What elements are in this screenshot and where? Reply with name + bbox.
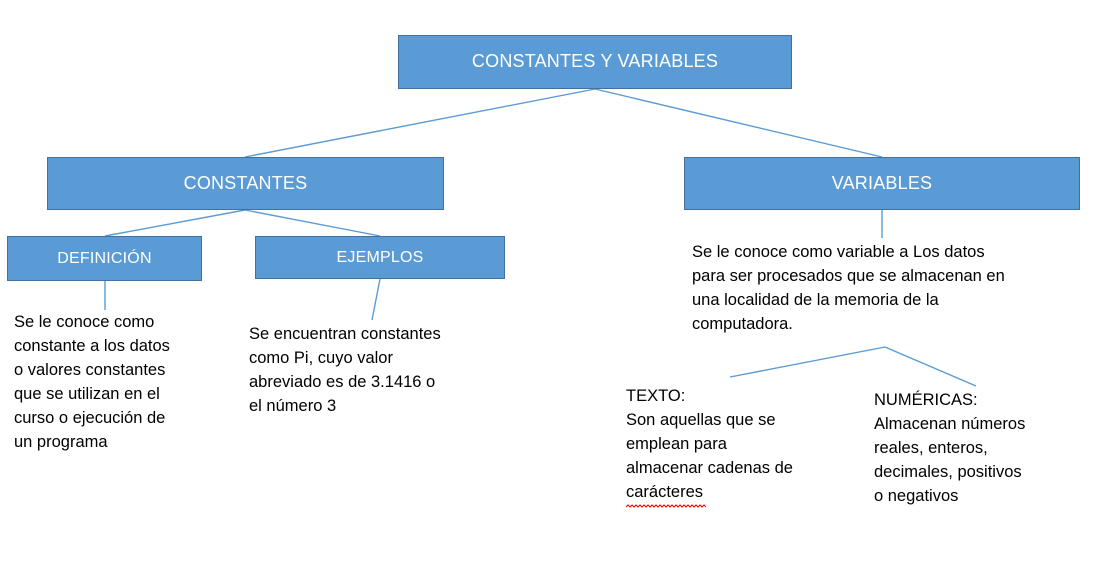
spellcheck-squiggle-icon xyxy=(626,504,706,508)
numericas-line-3: decimales, positivos xyxy=(874,461,1077,485)
node-definicion[interactable]: DEFINICIÓN xyxy=(7,236,202,281)
node-ejemplos[interactable]: EJEMPLOS xyxy=(255,236,505,279)
text-variables-body: Se le conoce como variable a Los datos p… xyxy=(692,241,1078,337)
text-ejemplos-body: Se encuentran constantes como Pi, cuyo v… xyxy=(249,323,505,419)
definicion-line-3: o valores constantes xyxy=(14,359,200,383)
node-constantes-label: CONSTANTES xyxy=(184,174,308,194)
node-constantes-y-variables[interactable]: CONSTANTES Y VARIABLES xyxy=(398,35,792,89)
node-definicion-label: DEFINICIÓN xyxy=(57,250,151,268)
texto-line-2: emplean para xyxy=(626,433,838,457)
numericas-line-4: o negativos xyxy=(874,485,1077,509)
node-constantes[interactable]: CONSTANTES xyxy=(47,157,444,210)
definicion-line-6: un programa xyxy=(14,431,200,455)
connector-ejemplos-to-text xyxy=(372,279,380,320)
connector-variables-to-texto xyxy=(730,347,885,377)
variables-line-1: Se le conoce como variable a Los datos xyxy=(692,241,1078,265)
misspelled-word: carácteres xyxy=(626,481,703,505)
definicion-line-5: curso o ejecución de xyxy=(14,407,200,431)
definicion-line-4: que se utilizan en el xyxy=(14,383,200,407)
concept-map-canvas: CONSTANTES Y VARIABLES CONSTANTES VARIAB… xyxy=(0,0,1104,580)
connector-root-to-constantes xyxy=(245,89,595,157)
texto-line-1: Son aquellas que se xyxy=(626,409,838,433)
ejemplos-line-2: como Pi, cuyo valor xyxy=(249,347,505,371)
node-ejemplos-label: EJEMPLOS xyxy=(337,249,424,267)
texto-line-3: almacenar cadenas de xyxy=(626,457,838,481)
connector-constantes-to-definicion xyxy=(105,210,245,236)
connector-variables-to-numericas xyxy=(885,347,976,386)
definicion-line-2: constante a los datos xyxy=(14,335,200,359)
node-variables-label: VARIABLES xyxy=(832,174,933,194)
misspelled-word-text: carácteres xyxy=(626,483,703,501)
texto-line-4: carácteres xyxy=(626,481,838,505)
text-definicion-body: Se le conoce como constante a los datos … xyxy=(14,311,200,455)
text-numericas-branch: NUMÉRICAS: Almacenan números reales, ent… xyxy=(874,389,1077,509)
texto-heading: TEXTO: xyxy=(626,385,838,409)
variables-line-3: una localidad de la memoria de la xyxy=(692,289,1078,313)
connector-root-to-variables xyxy=(595,89,882,157)
ejemplos-line-1: Se encuentran constantes xyxy=(249,323,505,347)
numericas-heading: NUMÉRICAS: xyxy=(874,389,1077,413)
connector-constantes-to-ejemplos xyxy=(245,210,380,236)
ejemplos-line-4: el número 3 xyxy=(249,395,505,419)
node-variables[interactable]: VARIABLES xyxy=(684,157,1080,210)
definicion-line-1: Se le conoce como xyxy=(14,311,200,335)
node-root-label: CONSTANTES Y VARIABLES xyxy=(472,52,718,72)
ejemplos-line-3: abreviado es de 3.1416 o xyxy=(249,371,505,395)
variables-line-4: computadora. xyxy=(692,313,1078,337)
numericas-line-1: Almacenan números xyxy=(874,413,1077,437)
numericas-line-2: reales, enteros, xyxy=(874,437,1077,461)
text-texto-branch: TEXTO: Son aquellas que se emplean para … xyxy=(626,385,838,505)
variables-line-2: para ser procesados que se almacenan en xyxy=(692,265,1078,289)
